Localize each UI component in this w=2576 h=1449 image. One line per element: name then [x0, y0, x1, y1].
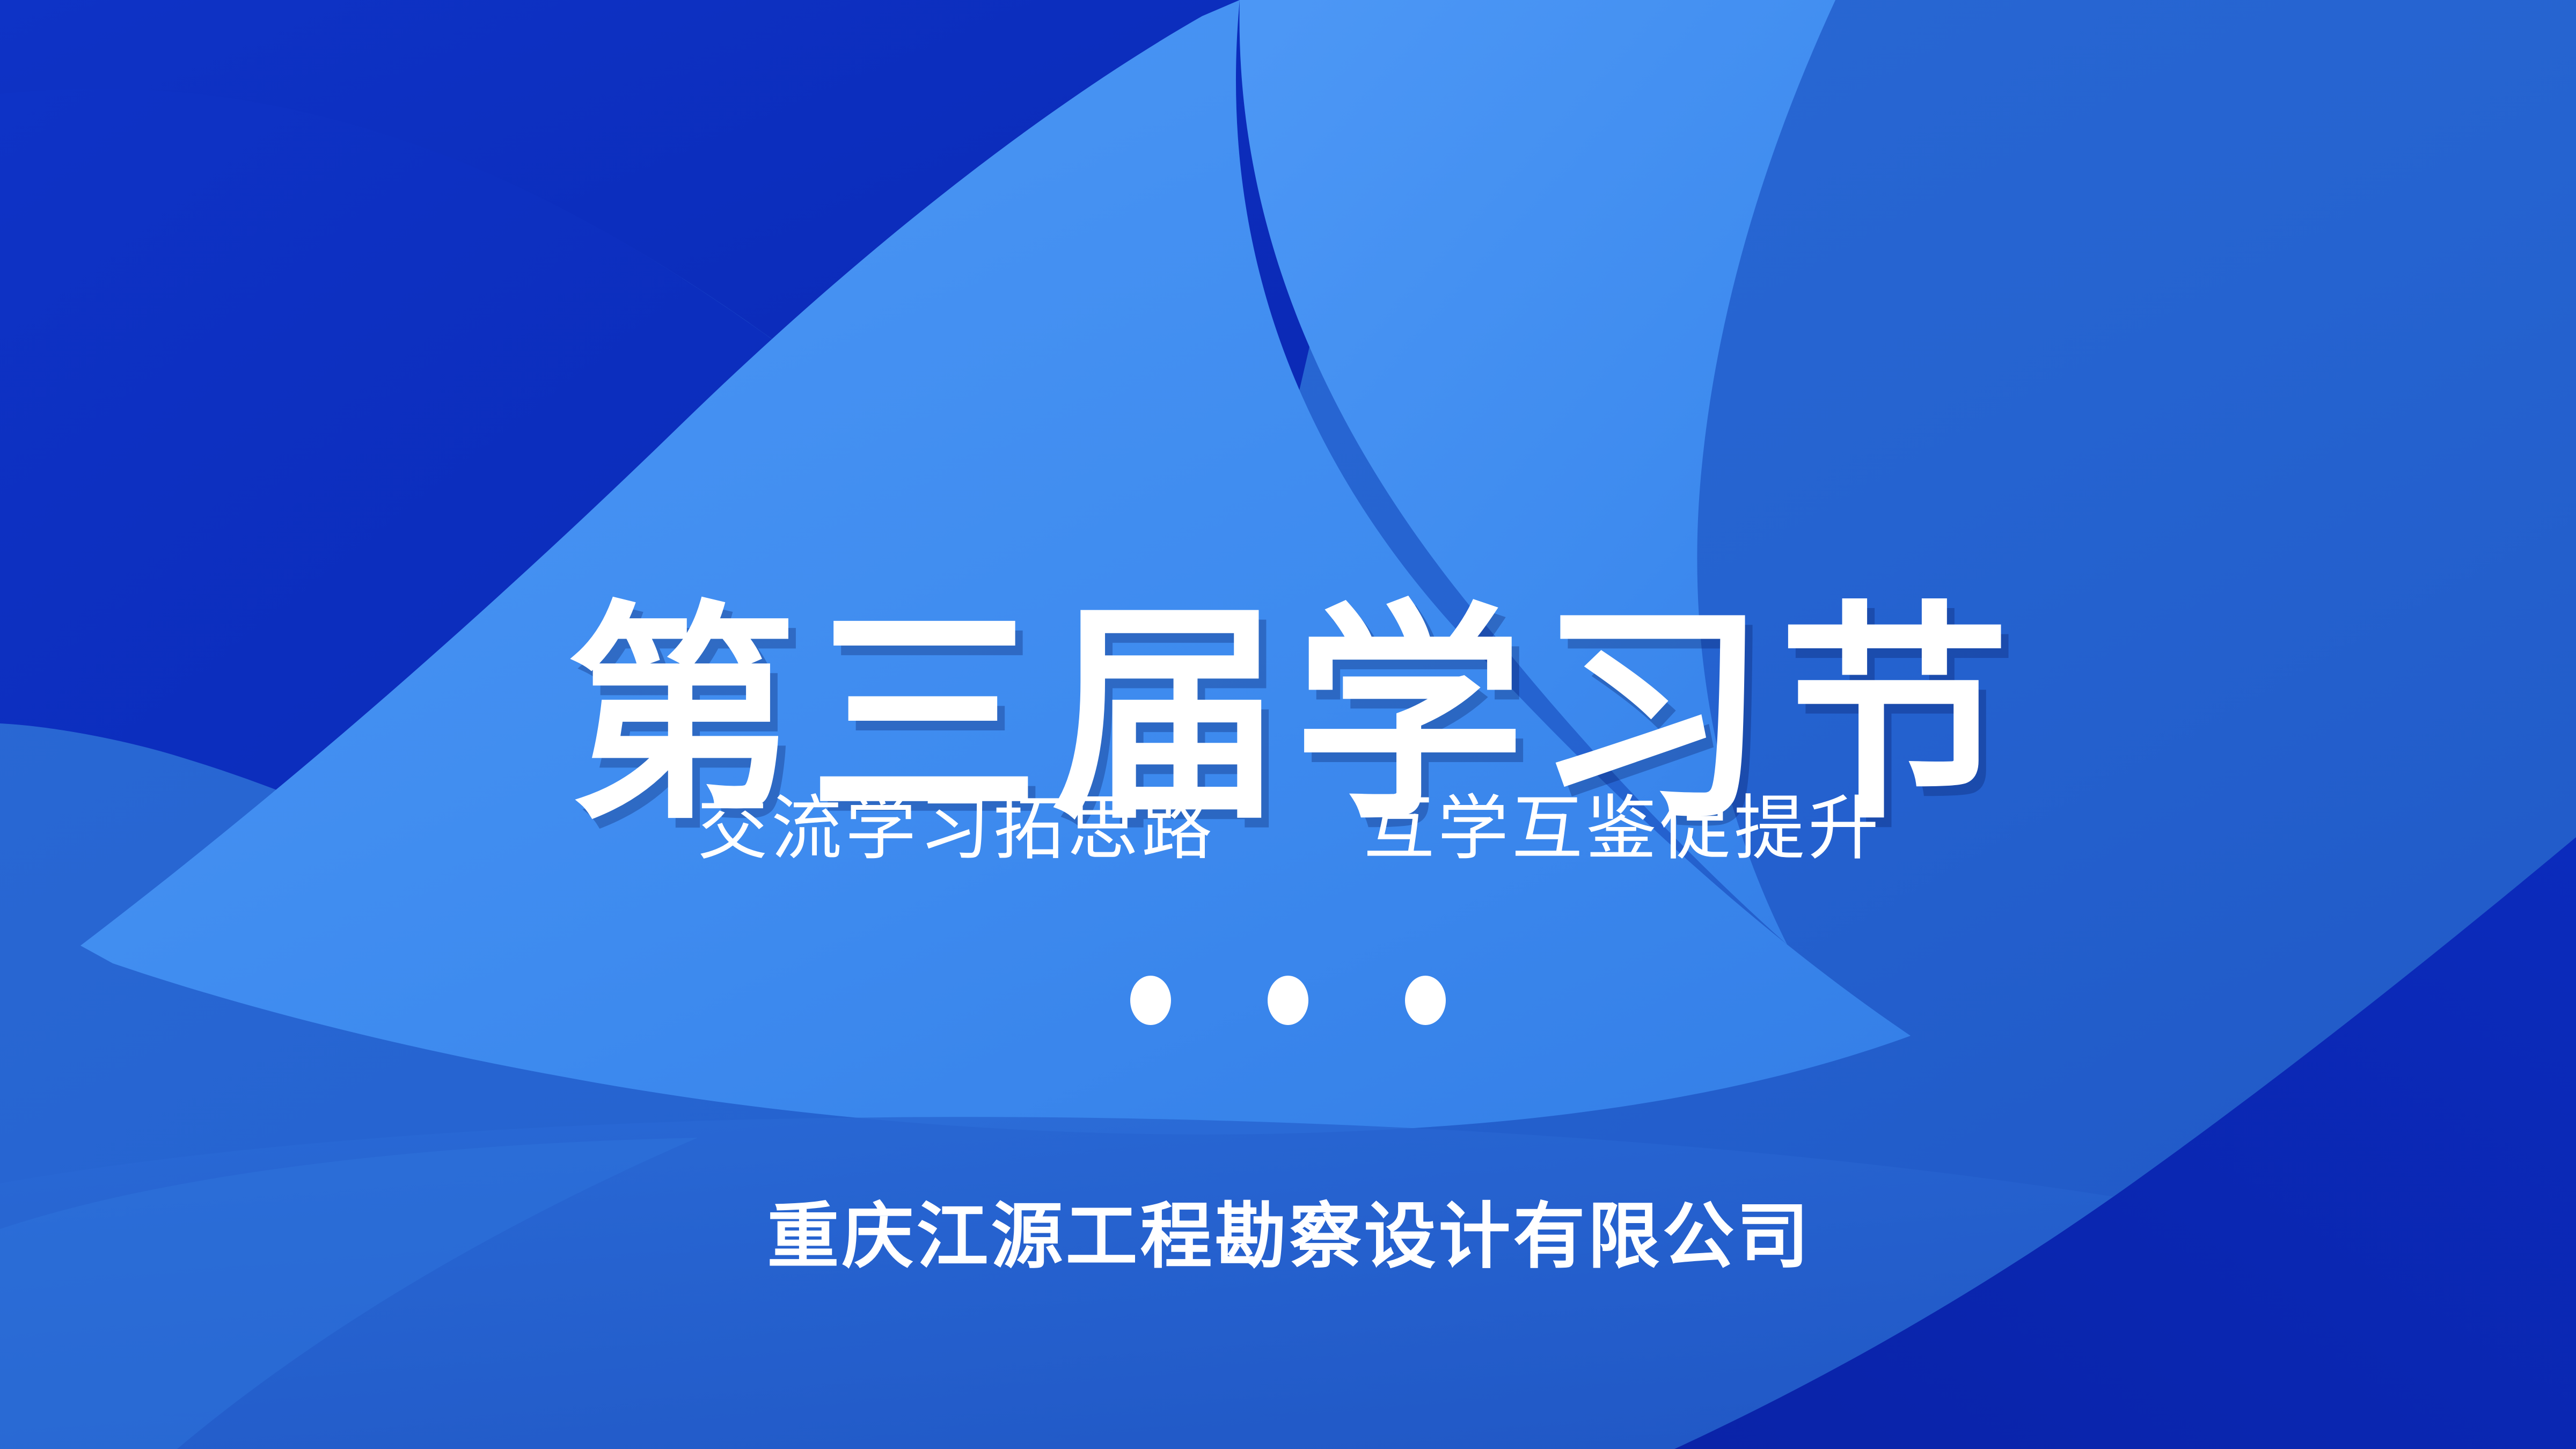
dot-separator [0, 976, 2576, 1025]
dot-icon-3 [1405, 976, 1446, 1025]
organization-name: 重庆江源工程勘察设计有限公司 [0, 1201, 2576, 1273]
dot-icon-2 [1268, 976, 1308, 1025]
poster-content: 第三届学习节 交流学习拓思路 互学互鉴促提升 重庆江源工程勘察设计有限公司 [0, 0, 2576, 1449]
dot-icon-1 [1130, 976, 1171, 1025]
subtitle: 交流学习拓思路 互学互鉴促提升 [0, 793, 2576, 864]
poster-canvas: 第三届学习节 交流学习拓思路 互学互鉴促提升 重庆江源工程勘察设计有限公司 [0, 0, 2576, 1449]
